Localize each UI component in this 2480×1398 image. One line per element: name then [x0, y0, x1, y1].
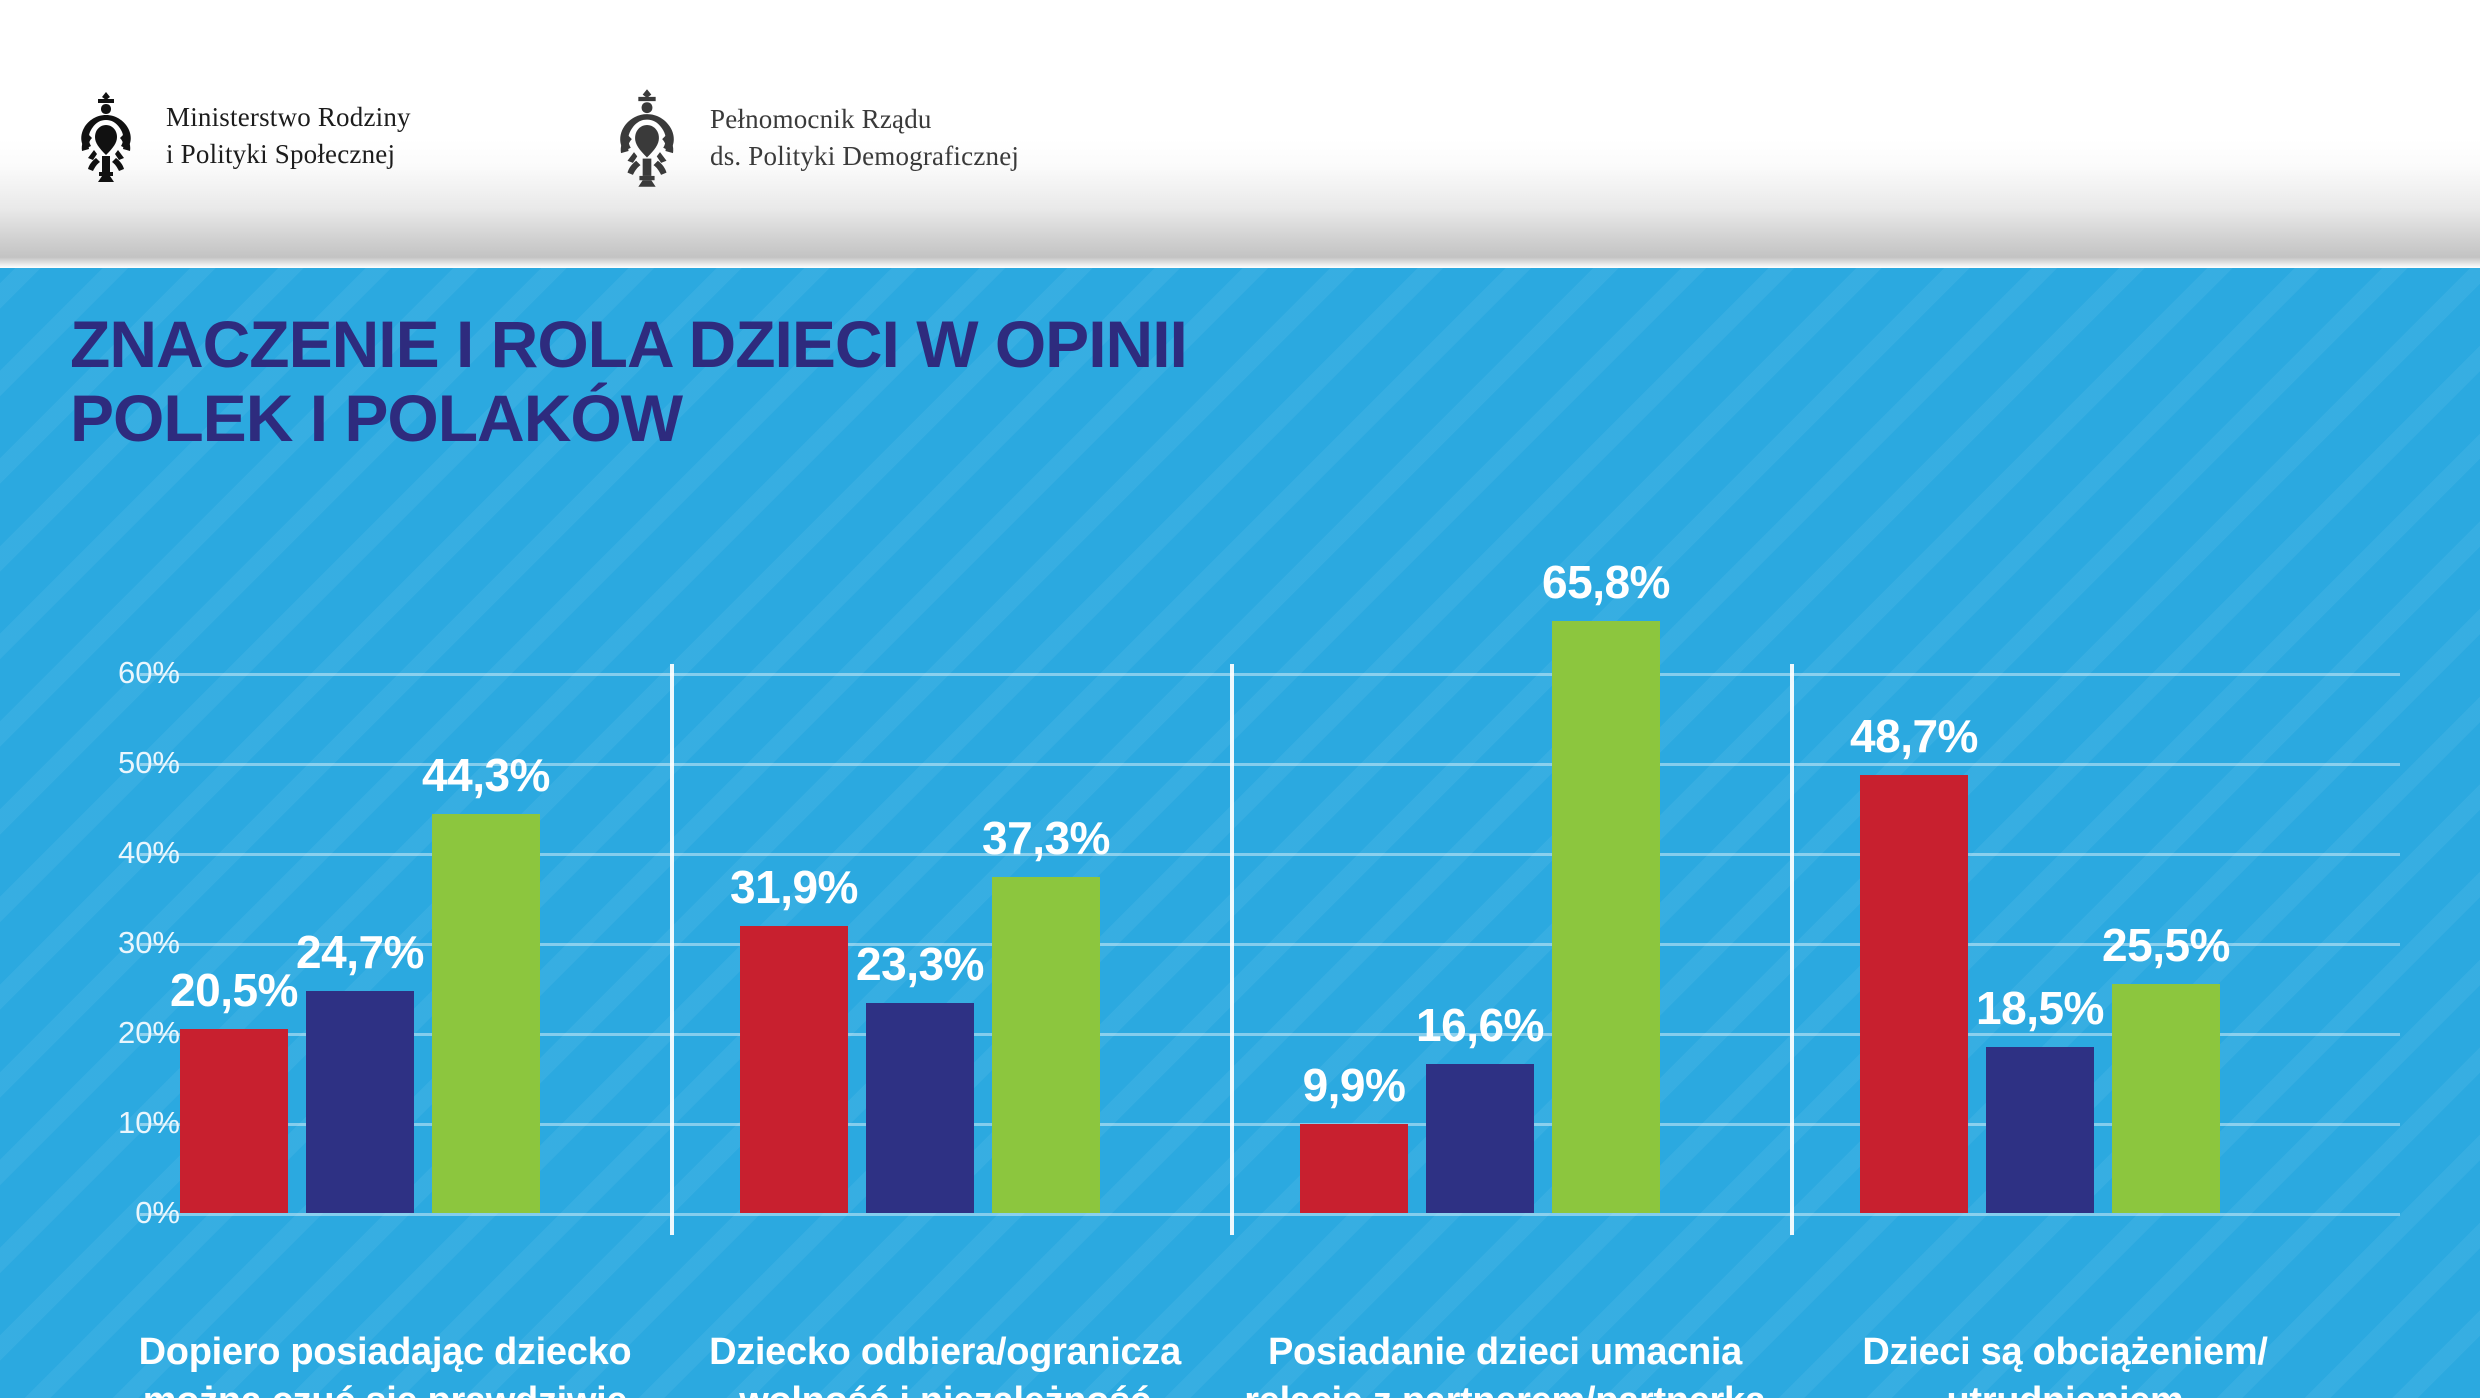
polish-eagle-emblem-icon	[72, 88, 140, 184]
bar-value-label: 16,6%	[1416, 998, 1544, 1052]
bar-value-label: 37,3%	[982, 811, 1110, 865]
header-band: Ministerstwo Rodziny i Polityki Społeczn…	[0, 0, 2480, 268]
bar[interactable]: 44,3%	[432, 814, 540, 1213]
logo-pelnomocnik-rzadu: Pełnomocnik Rządu ds. Polityki Demografi…	[610, 86, 1019, 190]
logo-pelnomocnik-label: Pełnomocnik Rządu ds. Polityki Demografi…	[710, 101, 1019, 176]
category-labels-row: Dopiero posiadając dziecko można czuć si…	[100, 1328, 2400, 1398]
y-axis-tick-label: 20%	[45, 1015, 180, 1051]
bar-value-label: 18,5%	[1976, 981, 2104, 1035]
group-separator	[1230, 664, 1234, 1235]
bar-value-label: 25,5%	[2102, 918, 2230, 972]
bar[interactable]: 9,9%	[1300, 1124, 1408, 1213]
bar-chart-plot: 0%10%20%30%40%50%60% 20,5%24,7%44,3%31,9…	[100, 553, 2400, 1293]
page-title: ZNACZENIE I ROLA DZIECI W OPINII POLEK I…	[70, 308, 1187, 456]
category-label: Dzieci są obciążeniem/ utrudnieniem	[1780, 1328, 2350, 1398]
y-axis-tick-label: 0%	[45, 1195, 180, 1231]
bar-value-label: 65,8%	[1542, 555, 1670, 609]
bar[interactable]: 16,6%	[1426, 1064, 1534, 1213]
category-label: Dopiero posiadając dziecko można czuć si…	[100, 1328, 670, 1398]
bar-value-label: 31,9%	[730, 860, 858, 914]
polish-eagle-emblem-icon	[610, 86, 684, 190]
y-axis-tick-label: 60%	[45, 655, 180, 691]
y-axis-tick-label: 40%	[45, 835, 180, 871]
bar[interactable]: 23,3%	[866, 1003, 974, 1213]
gridline	[140, 1213, 2400, 1216]
y-axis-tick-label: 50%	[45, 745, 180, 781]
bar-value-label: 23,3%	[856, 937, 984, 991]
bar-value-label: 20,5%	[170, 963, 298, 1017]
group-separator	[670, 664, 674, 1235]
bar[interactable]: 31,9%	[740, 926, 848, 1213]
bar-value-label: 44,3%	[422, 748, 550, 802]
y-axis-tick-label: 30%	[45, 925, 180, 961]
infographic-panel: ZNACZENIE I ROLA DZIECI W OPINII POLEK I…	[0, 268, 2480, 1398]
group-separator	[1790, 664, 1794, 1235]
category-label: Dziecko odbiera/ogranicza wolność i niez…	[660, 1328, 1230, 1398]
bar[interactable]: 20,5%	[180, 1029, 288, 1214]
bar[interactable]: 48,7%	[1860, 775, 1968, 1213]
bar-value-label: 24,7%	[296, 925, 424, 979]
bar[interactable]: 18,5%	[1986, 1047, 2094, 1214]
bar[interactable]: 24,7%	[306, 991, 414, 1213]
y-axis-tick-label: 10%	[45, 1105, 180, 1141]
bar[interactable]: 25,5%	[2112, 984, 2220, 1214]
gridline	[140, 673, 2400, 676]
bar[interactable]: 65,8%	[1552, 621, 1660, 1213]
category-label: Posiadanie dzieci umacnia relacje z part…	[1220, 1328, 1790, 1398]
bar-value-label: 9,9%	[1303, 1058, 1406, 1112]
bar[interactable]: 37,3%	[992, 877, 1100, 1213]
logo-ministerstwo-label: Ministerstwo Rodziny i Polityki Społeczn…	[166, 99, 411, 174]
logo-ministerstwo-rodziny: Ministerstwo Rodziny i Polityki Społeczn…	[72, 88, 411, 184]
bar-value-label: 48,7%	[1850, 709, 1978, 763]
